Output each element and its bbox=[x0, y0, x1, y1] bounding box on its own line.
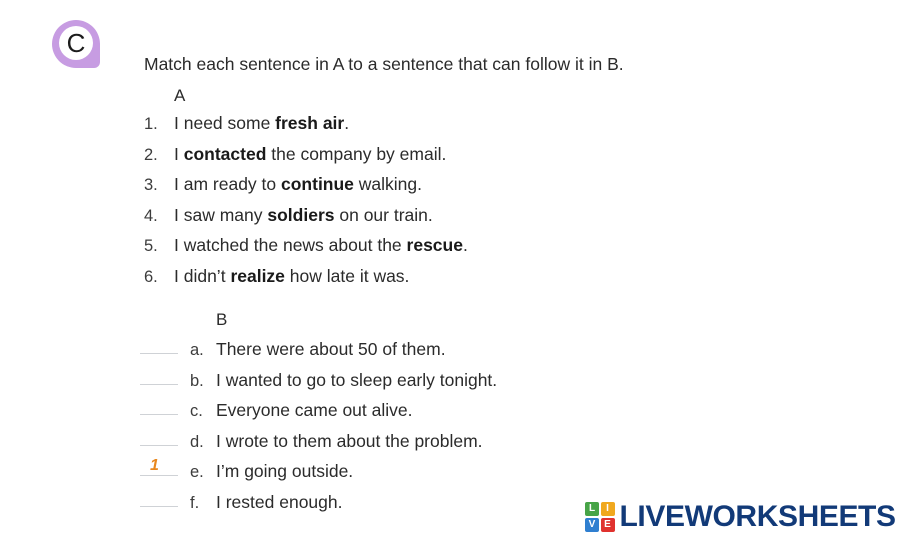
item-text: I am ready to continue walking. bbox=[174, 174, 422, 195]
answer-blank[interactable] bbox=[138, 337, 184, 355]
text-bold: fresh air bbox=[275, 113, 344, 133]
item-text: I need some fresh air. bbox=[174, 113, 349, 134]
text-after: how late it was. bbox=[285, 266, 410, 286]
list-item: 1. I need some fresh air. bbox=[144, 113, 664, 144]
item-letter: c. bbox=[190, 402, 216, 421]
item-number: 5. bbox=[144, 237, 174, 256]
answer-blank-filled[interactable]: 1 bbox=[138, 459, 184, 477]
logo-tile-v: V bbox=[585, 518, 599, 532]
text-before: I watched the news about the bbox=[174, 235, 407, 255]
list-item: c. Everyone came out alive. bbox=[138, 398, 698, 429]
instruction-text: Match each sentence in A to a sentence t… bbox=[144, 53, 624, 75]
group-a-header: A bbox=[174, 86, 185, 106]
blank-rule bbox=[140, 506, 178, 507]
section-letter: C bbox=[67, 30, 86, 56]
list-item: 3. I am ready to continue walking. bbox=[144, 174, 664, 205]
item-text: Everyone came out alive. bbox=[216, 400, 413, 421]
text-after: the company by email. bbox=[266, 144, 446, 164]
answer-blank[interactable] bbox=[138, 398, 184, 416]
list-item: 5. I watched the news about the rescue. bbox=[144, 235, 664, 266]
answer-value: 1 bbox=[150, 458, 159, 474]
item-letter: d. bbox=[190, 433, 216, 452]
blank-rule bbox=[140, 353, 178, 354]
text-before: I didn’t bbox=[174, 266, 230, 286]
text-bold: soldiers bbox=[267, 205, 334, 225]
list-item: 1 e. I’m going outside. bbox=[138, 459, 698, 490]
blank-rule bbox=[140, 445, 178, 446]
list-item: 2. I contacted the company by email. bbox=[144, 144, 664, 175]
text-before: I need some bbox=[174, 113, 275, 133]
logo-tiles-icon: L I V E bbox=[585, 502, 615, 532]
item-text: I watched the news about the rescue. bbox=[174, 235, 468, 256]
item-letter: f. bbox=[190, 494, 216, 513]
item-number: 4. bbox=[144, 207, 174, 226]
list-item: b. I wanted to go to sleep early tonight… bbox=[138, 368, 698, 399]
text-bold: continue bbox=[281, 174, 354, 194]
item-number: 6. bbox=[144, 268, 174, 287]
logo-tile-l: L bbox=[585, 502, 599, 516]
item-text: I saw many soldiers on our train. bbox=[174, 205, 433, 226]
list-item: d. I wrote to them about the problem. bbox=[138, 429, 698, 460]
answer-blank[interactable] bbox=[138, 490, 184, 508]
logo-wordmark: LIVEWORKSHEETS bbox=[620, 502, 896, 532]
group-a-list: 1. I need some fresh air. 2. I contacted… bbox=[144, 113, 664, 297]
text-bold: contacted bbox=[184, 144, 267, 164]
item-number: 3. bbox=[144, 176, 174, 195]
list-item: a. There were about 50 of them. bbox=[138, 337, 698, 368]
text-before: I am ready to bbox=[174, 174, 281, 194]
text-after: . bbox=[463, 235, 468, 255]
item-text: There were about 50 of them. bbox=[216, 339, 446, 360]
list-item: 6. I didn’t realize how late it was. bbox=[144, 266, 664, 297]
item-text: I wanted to go to sleep early tonight. bbox=[216, 370, 497, 391]
item-number: 2. bbox=[144, 146, 174, 165]
item-letter: a. bbox=[190, 341, 216, 360]
liveworksheets-logo[interactable]: L I V E LIVEWORKSHEETS bbox=[585, 500, 896, 534]
item-letter: e. bbox=[190, 463, 216, 482]
text-before: I bbox=[174, 144, 184, 164]
blank-rule bbox=[140, 475, 178, 476]
logo-tile-i: I bbox=[601, 502, 615, 516]
item-text: I’m going outside. bbox=[216, 461, 353, 482]
text-after: . bbox=[344, 113, 349, 133]
item-text: I rested enough. bbox=[216, 492, 342, 513]
logo-tile-e: E bbox=[601, 518, 615, 532]
group-b-list: a. There were about 50 of them. b. I wan… bbox=[138, 337, 698, 521]
list-item: 4. I saw many soldiers on our train. bbox=[144, 205, 664, 236]
text-after: on our train. bbox=[335, 205, 433, 225]
item-letter: b. bbox=[190, 372, 216, 391]
text-bold: rescue bbox=[407, 235, 463, 255]
blank-rule bbox=[140, 414, 178, 415]
answer-blank[interactable] bbox=[138, 368, 184, 386]
group-b-header: B bbox=[216, 310, 227, 330]
item-text: I didn’t realize how late it was. bbox=[174, 266, 409, 287]
badge-disc: C bbox=[59, 26, 93, 60]
item-text: I contacted the company by email. bbox=[174, 144, 446, 165]
section-badge: C bbox=[52, 20, 100, 68]
blank-rule bbox=[140, 384, 178, 385]
item-text: I wrote to them about the problem. bbox=[216, 431, 483, 452]
text-before: I saw many bbox=[174, 205, 267, 225]
text-after: walking. bbox=[354, 174, 422, 194]
text-bold: realize bbox=[230, 266, 284, 286]
answer-blank[interactable] bbox=[138, 429, 184, 447]
item-number: 1. bbox=[144, 115, 174, 134]
